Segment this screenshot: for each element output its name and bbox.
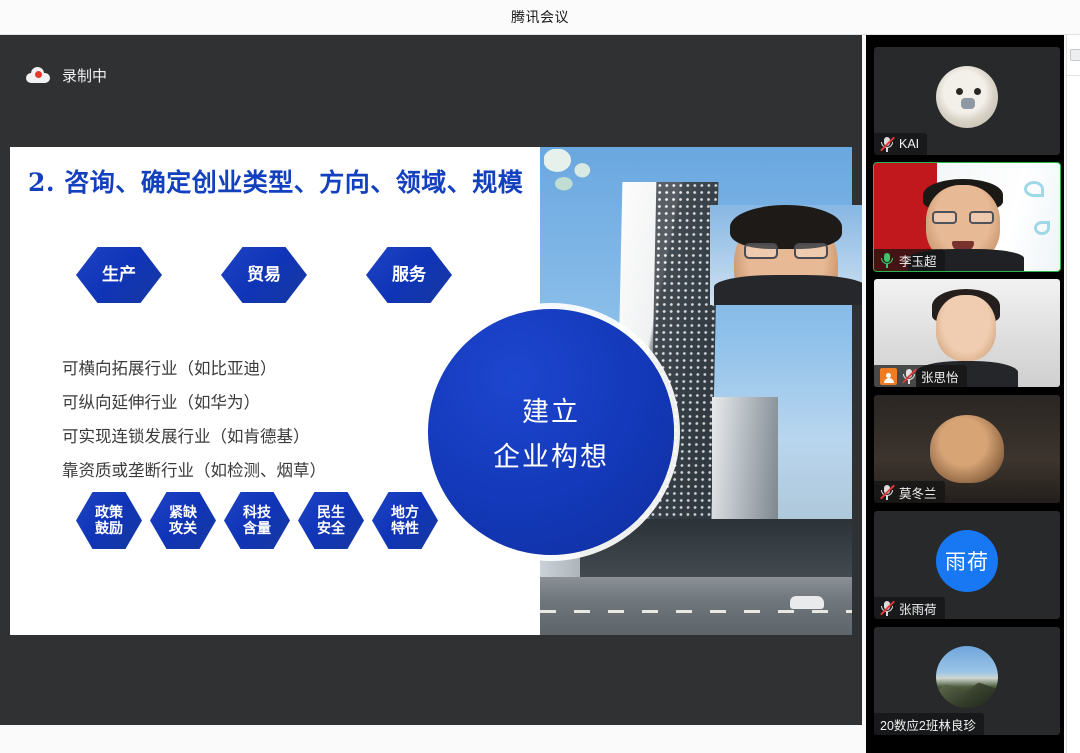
hexagon-local-line1: 地方	[391, 505, 419, 521]
participant-rail[interactable]: KAI 李玉超	[866, 35, 1064, 753]
street-ground	[540, 577, 852, 635]
hexagon-policy-line1: 政策	[95, 505, 123, 521]
microphone-muted-icon	[880, 484, 894, 500]
microphone-muted-icon	[902, 368, 916, 384]
participant-label: 莫冬兰	[874, 481, 945, 503]
participant-tile-linliangzhen[interactable]: 20数应2班林良珍	[874, 627, 1060, 735]
participant-name: 李玉超	[899, 251, 937, 270]
hexagon-production-label: 生产	[102, 265, 136, 284]
slide-title: 2. 咨询、确定创业类型、方向、领域、规模	[28, 163, 523, 199]
meeting-window: 腾讯会议 录制中 2. 咨询、确定创业类型、方向、领域、规模 生产 贸易 服务	[0, 0, 1080, 753]
hexagon-shortage: 紧缺 攻关	[150, 492, 216, 549]
participant-name: 莫冬兰	[899, 483, 937, 502]
participant-tile-zhangsiyi[interactable]: 张思怡	[874, 279, 1060, 387]
microphone-muted-icon	[880, 136, 894, 152]
hexagon-local: 地方 特性	[372, 492, 438, 549]
microphone-active-icon	[880, 252, 894, 268]
side-panel-edge[interactable]	[1066, 35, 1080, 753]
hexagon-livelihood: 民生 安全	[298, 492, 364, 549]
participant-label: 张思怡	[874, 365, 967, 387]
avatar	[936, 66, 998, 128]
hexagon-service-label: 服务	[392, 265, 426, 284]
hexagon-technology-line1: 科技	[243, 505, 271, 521]
body-line-3: 可实现连锁发展行业（如肯德基）	[62, 420, 326, 454]
car	[790, 596, 824, 609]
hexagon-trade: 贸易	[221, 247, 307, 303]
body-line-2: 可纵向延伸行业（如华为）	[62, 386, 326, 420]
host-badge-icon	[880, 368, 897, 385]
hexagon-technology-line2: 含量	[243, 521, 271, 537]
hexagon-production: 生产	[76, 247, 162, 303]
hexagon-policy: 政策 鼓励	[76, 492, 142, 549]
slide-body-text: 可横向拓展行业（如比亚迪） 可纵向延伸行业（如华为） 可实现连锁发展行业（如肯德…	[62, 352, 326, 488]
hexagon-service: 服务	[366, 247, 452, 303]
hexagon-policy-line2: 鼓励	[95, 521, 123, 537]
hexagon-trade-label: 贸易	[247, 265, 281, 284]
center-circle-line1: 建立	[522, 390, 580, 429]
avatar-initials: 雨荷	[945, 546, 989, 576]
participant-label: 20数应2班林良珍	[874, 713, 984, 735]
participant-tile-kai[interactable]: KAI	[874, 47, 1060, 155]
panel-icon[interactable]	[1070, 49, 1080, 61]
presenter-camera-overlay[interactable]	[710, 205, 862, 305]
hexagon-shortage-line2: 攻关	[169, 521, 197, 537]
center-circle-line2: 企业构想	[493, 435, 609, 474]
center-circle: 建立 企业构想	[428, 309, 674, 555]
participant-name: 张思怡	[921, 367, 959, 386]
body-line-1: 可横向拓展行业（如比亚迪）	[62, 352, 326, 386]
hexagon-livelihood-line2: 安全	[317, 521, 345, 537]
foliage-decoration	[544, 149, 610, 205]
participant-label: 张雨荷	[874, 597, 945, 619]
participant-tile-liyuchao[interactable]: 李玉超	[874, 163, 1060, 271]
participant-name: 20数应2班林良珍	[880, 715, 976, 734]
body-line-4: 靠资质或垄断行业（如检测、烟草）	[62, 454, 326, 488]
hexagon-shortage-line1: 紧缺	[169, 505, 197, 521]
hexagon-livelihood-line1: 民生	[317, 505, 345, 521]
recording-indicator: 录制中	[0, 35, 862, 115]
avatar	[936, 646, 998, 708]
panel-divider	[1067, 75, 1080, 76]
participant-tile-zhangyuhe[interactable]: 雨荷 张雨荷	[874, 511, 1060, 619]
recording-label: 录制中	[62, 65, 107, 86]
participant-tile-modonglan[interactable]: 莫冬兰	[874, 395, 1060, 503]
shared-screen-stage[interactable]: 录制中 2. 咨询、确定创业类型、方向、领域、规模 生产 贸易 服务 可横向拓展…	[0, 35, 862, 725]
participant-label: 李玉超	[874, 249, 945, 271]
microphone-muted-icon	[880, 600, 894, 616]
hexagon-local-line2: 特性	[391, 521, 419, 537]
participant-name: KAI	[899, 137, 919, 151]
participant-name: 张雨荷	[899, 599, 937, 618]
window-title-bar: 腾讯会议	[0, 0, 1080, 35]
hexagon-technology: 科技 含量	[224, 492, 290, 549]
avatar: 雨荷	[936, 530, 998, 592]
app-title: 腾讯会议	[511, 7, 569, 27]
cloud-record-icon	[26, 67, 50, 83]
participant-label: KAI	[874, 133, 927, 155]
